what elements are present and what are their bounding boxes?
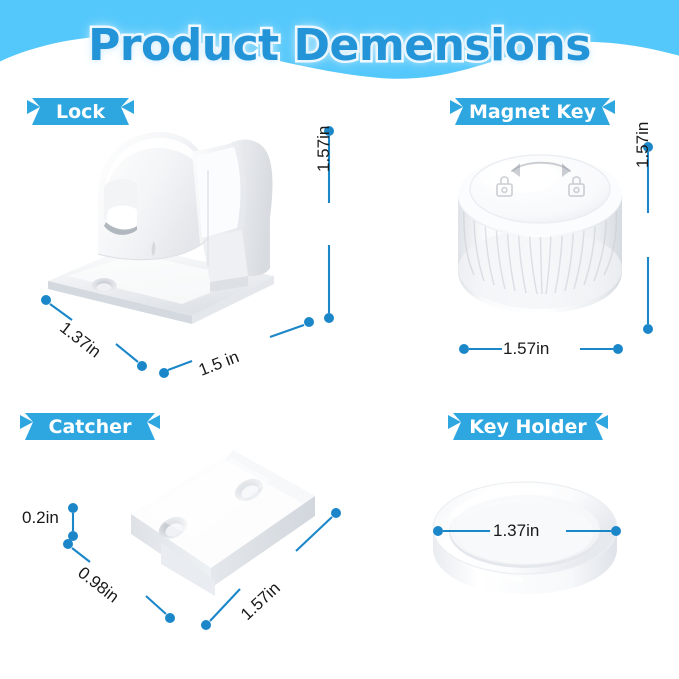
section-label-magnet-key-text: Magnet Key xyxy=(450,97,615,127)
section-key-holder: Key Holder xyxy=(340,390,679,679)
section-label-catcher: Catcher xyxy=(20,412,160,442)
dimension-label-catcher-thickness: 0.2in xyxy=(22,508,59,528)
section-label-magnet-key: Magnet Key xyxy=(450,97,615,127)
section-label-lock-text: Lock xyxy=(27,97,134,127)
dimension-label-magnet-key-height: 1.57in xyxy=(633,122,653,168)
dimension-line-lock-width xyxy=(158,315,318,380)
section-label-lock: Lock xyxy=(27,97,134,127)
dimension-line-magnet-key-height xyxy=(637,141,659,336)
dimension-line-catcher-length xyxy=(192,507,347,632)
product-dimensions-infographic: Product Demensions Lock xyxy=(0,0,679,679)
section-label-key-holder: Key Holder xyxy=(448,412,608,442)
page-title: Product Demensions xyxy=(0,20,679,71)
dimension-label-magnet-key-diameter: 1.57in xyxy=(503,339,549,359)
section-label-key-holder-text: Key Holder xyxy=(448,412,608,442)
dimension-line-catcher-thickness xyxy=(65,502,81,542)
dimension-label-key-holder-diameter: 1.37in xyxy=(493,521,539,541)
page-title-text: Product Demensions xyxy=(88,20,591,71)
product-magnet-key-knob xyxy=(450,135,630,320)
section-label-catcher-text: Catcher xyxy=(20,412,160,442)
dimension-label-lock-height: 1.57in xyxy=(314,126,334,172)
section-catcher: Catcher xyxy=(0,390,340,679)
